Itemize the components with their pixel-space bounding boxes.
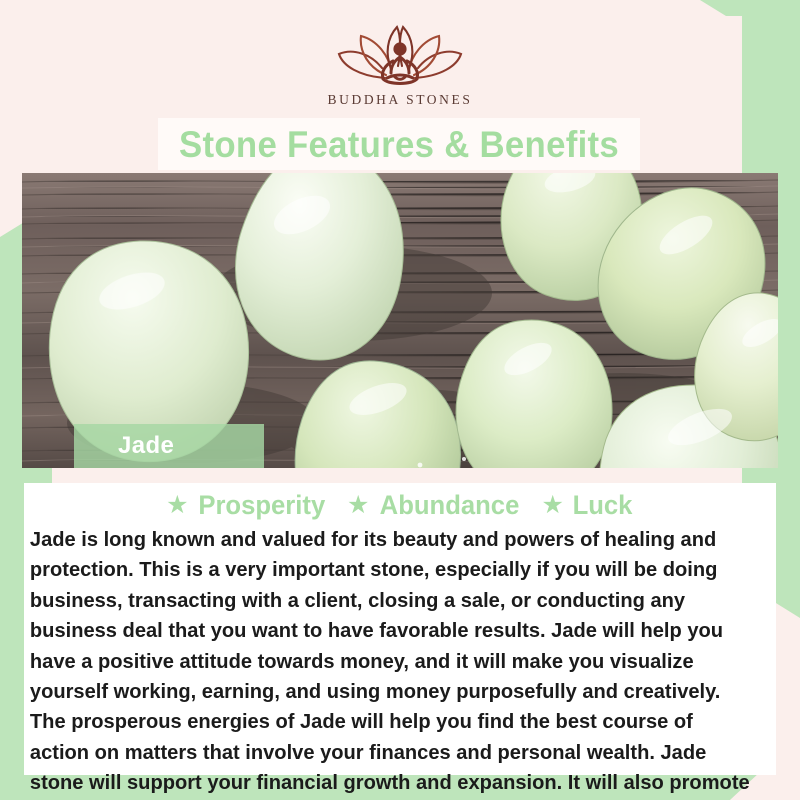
header: BUDDHA STONES (0, 0, 800, 120)
keyword-list: ★ Prosperity ★ Abundance ★ Luck (24, 485, 776, 525)
keyword-label-prosperity: Prosperity (199, 492, 326, 519)
content-card: ★ Prosperity ★ Abundance ★ Luck Jade is … (24, 483, 776, 775)
star-icon: ★ (347, 493, 369, 518)
keyword-label-luck: Luck (572, 492, 632, 519)
keyword-label-abundance: Abundance (380, 492, 520, 519)
keyword-item: ★ Abundance (347, 492, 523, 519)
stone-photo: Jade (22, 173, 778, 468)
lotus-meditation-icon (300, 18, 500, 90)
stone-name-label: Jade (74, 424, 264, 468)
keyword-item: ★ Luck (541, 492, 633, 519)
stone-description: Jade is long known and valued for its be… (24, 525, 765, 800)
star-icon: ★ (541, 493, 563, 518)
star-icon: ★ (166, 493, 188, 518)
brand-logo: BUDDHA STONES (300, 18, 500, 108)
brand-name: BUDDHA STONES (300, 92, 500, 108)
keyword-item: ★ Prosperity (166, 492, 329, 519)
page-title: Stone Features & Benefits (179, 126, 619, 163)
title-banner: Stone Features & Benefits (158, 118, 640, 170)
infographic-page: BUDDHA STONES Stone Features & Benefits (0, 0, 800, 800)
stone-name-text: Jade (118, 432, 174, 460)
